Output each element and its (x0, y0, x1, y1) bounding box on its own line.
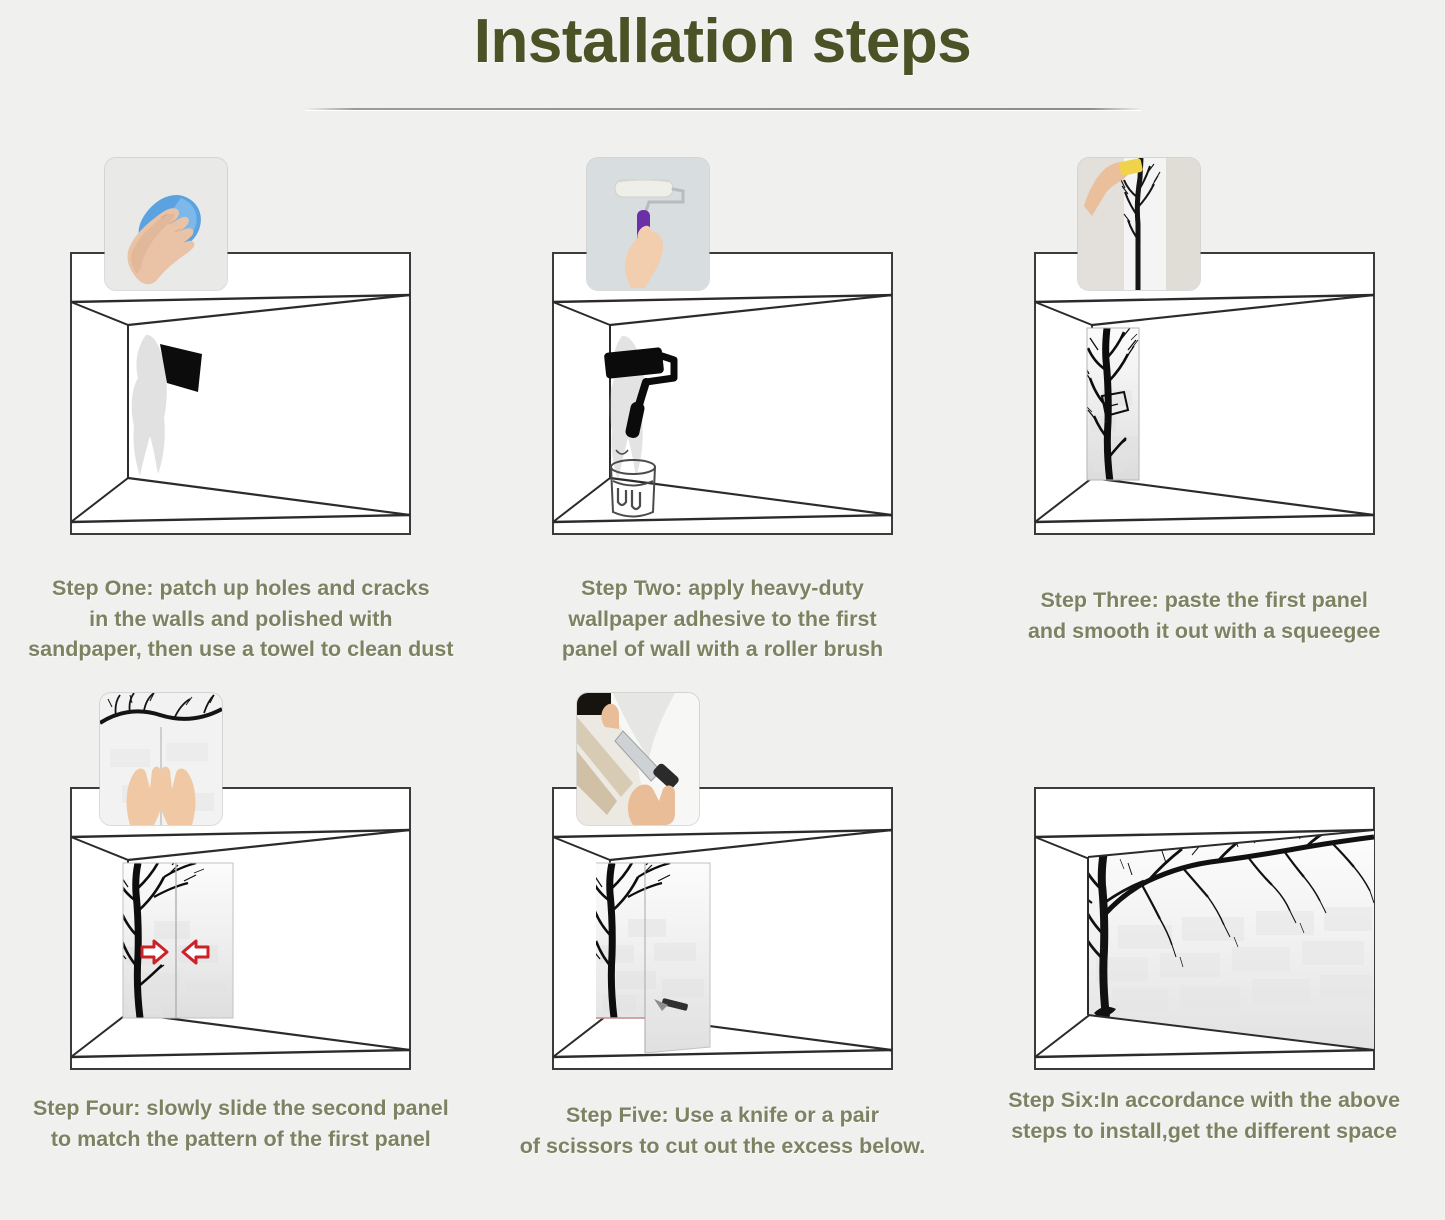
full-wall-mural (1068, 823, 1374, 1050)
room-diagram-six (963, 785, 1445, 1075)
step-three-caption: Step Three: paste the first panel and sm… (963, 585, 1445, 646)
step-six-illustration (963, 685, 1445, 1115)
step-card-one: Step One: patch up holes and cracks in t… (0, 150, 482, 685)
step-four-caption: Step Four: slowly slide the second panel… (0, 1093, 482, 1154)
paint-roller-on-wall-photo (587, 158, 709, 290)
step-card-five: Step Five: Use a knife or a pair of scis… (482, 685, 964, 1220)
step-five-illustration (482, 685, 964, 1115)
two-hands-aligning-wallpaper-panels-photo (100, 693, 222, 825)
step-six-caption: Step Six:In accordance with the above st… (963, 1085, 1445, 1146)
step-four-illustration (0, 685, 482, 1115)
step-card-six: Step Six:In accordance with the above st… (963, 685, 1445, 1220)
room-diagram-four (0, 785, 482, 1075)
step-card-two: Step Two: apply heavy-duty wallpaper adh… (482, 150, 964, 685)
title-divider (305, 108, 1141, 111)
hand-wiping-wall-with-blue-cloth-photo (105, 158, 227, 290)
step-five-caption: Step Five: Use a knife or a pair of scis… (482, 1100, 964, 1161)
cutting-wallpaper-with-utility-knife-photo (577, 693, 699, 825)
step-card-three: Step Three: paste the first panel and sm… (963, 150, 1445, 685)
step-three-illustration (963, 150, 1445, 580)
step-two-illustration (482, 150, 964, 580)
room-diagram-two (482, 250, 964, 540)
page-title: Installation steps (0, 8, 1445, 76)
step-one-illustration (0, 150, 482, 580)
mural-panels-two (105, 847, 233, 1018)
header: Installation steps (0, 0, 1445, 111)
step-two-caption: Step Two: apply heavy-duty wallpaper adh… (482, 573, 964, 665)
smoothing-wallpaper-with-yellow-squeegee-photo (1078, 158, 1200, 290)
room-diagram-three (963, 250, 1445, 540)
step-card-four: Step Four: slowly slide the second panel… (0, 685, 482, 1220)
room-diagram-one (0, 250, 482, 540)
steps-grid: Step One: patch up holes and cracks in t… (0, 150, 1445, 1220)
step-one-caption: Step One: patch up holes and cracks in t… (0, 573, 482, 665)
room-diagram-five (482, 785, 964, 1075)
